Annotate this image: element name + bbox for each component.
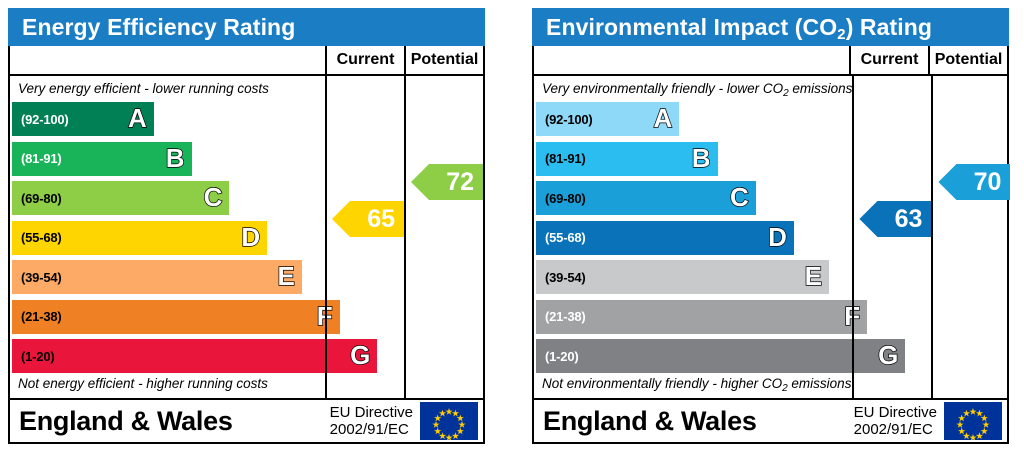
energy-header-spacer [10, 46, 325, 74]
energy-chart-footer: England & Wales EU Directive 2002/91/EC [10, 398, 483, 442]
energy-band-range-g: (1-20) [21, 349, 54, 364]
co2-band-f: (21-38)F [536, 300, 867, 334]
co2-footer-directive: EU Directive 2002/91/EC [854, 404, 944, 438]
co2-note-top-subscript: 2 [783, 88, 789, 99]
co2-band-range-c: (69-80) [545, 191, 586, 206]
co2-band-letter-b: B [692, 145, 711, 173]
co2-band-letter-e: E [805, 263, 822, 291]
co2-chart-footer: England & Wales EU Directive 2002/91/EC [534, 398, 1007, 442]
co2-band-c: (69-80)C [536, 181, 756, 215]
energy-band-range-a: (92-100) [21, 112, 69, 127]
energy-band-letter-d: D [241, 224, 260, 252]
energy-potential-column: 72 [404, 76, 483, 398]
co2-potential-rating-arrow: 70 [938, 164, 1010, 200]
environmental-impact-rating-chart: Environmental Impact (CO2) Rating Curren… [532, 8, 1009, 444]
co2-note-bottom-suffix: emissions [788, 376, 852, 391]
co2-band-b: (81-91)B [536, 142, 718, 176]
co2-band-range-f: (21-38) [545, 309, 586, 324]
energy-chart-main: Very energy efficient - lower running co… [10, 76, 483, 398]
energy-band-range-f: (21-38) [21, 309, 62, 324]
energy-band-range-c: (69-80) [21, 191, 62, 206]
co2-chart-header-row: Current Potential [534, 46, 1007, 76]
energy-directive-line1: EU Directive [330, 404, 413, 421]
co2-note-bottom-text: Not environmentally friendly - higher CO [542, 376, 782, 391]
energy-efficiency-rating-chart: Energy Efficiency Rating Current Potenti… [8, 8, 485, 444]
eu-flag-icon [944, 402, 1002, 440]
energy-directive-line2: 2002/91/EC [330, 421, 413, 438]
co2-footer-region: England & Wales [543, 406, 854, 437]
energy-band-b: (81-91)B [12, 142, 192, 176]
co2-note-bottom: Not environmentally friendly - higher CO… [534, 375, 852, 395]
co2-header-spacer [534, 46, 849, 74]
co2-band-letter-d: D [768, 224, 787, 252]
co2-note-top-text: Very environmentally friendly - lower CO [542, 81, 783, 96]
energy-band-f: (21-38)F [12, 300, 340, 334]
co2-note-top: Very environmentally friendly - lower CO… [534, 80, 852, 100]
energy-chart-body: Current Potential Very energy efficient … [8, 46, 485, 444]
energy-band-letter-c: C [204, 184, 223, 212]
co2-chart-title: Environmental Impact (CO2) Rating [532, 8, 1009, 46]
co2-potential-column: 70 [931, 76, 1010, 398]
co2-band-letter-c: C [730, 184, 749, 212]
energy-footer-region: England & Wales [19, 406, 330, 437]
co2-current-column: 63 [852, 76, 931, 398]
energy-band-c: (69-80)C [12, 181, 229, 215]
energy-current-rating-arrow: 65 [332, 201, 404, 237]
co2-chart-body: Current Potential Very environmentally f… [532, 46, 1009, 444]
co2-chart-title-suffix: ) Rating [846, 14, 932, 40]
co2-band-d: (55-68)D [536, 221, 794, 255]
co2-band-range-a: (92-100) [545, 112, 593, 127]
co2-band-letter-a: A [654, 105, 673, 133]
co2-band-range-g: (1-20) [545, 349, 578, 364]
co2-band-range-d: (55-68) [545, 230, 586, 245]
co2-current-rating-arrow: 63 [859, 201, 931, 237]
epc-charts-page: Energy Efficiency Rating Current Potenti… [0, 0, 1024, 452]
co2-header-current: Current [849, 46, 928, 74]
energy-band-e: (39-54)E [12, 260, 302, 294]
energy-band-range-e: (39-54) [21, 270, 62, 285]
co2-band-e: (39-54)E [536, 260, 829, 294]
co2-header-potential: Potential [928, 46, 1007, 74]
energy-footer-directive: EU Directive 2002/91/EC [330, 404, 420, 438]
energy-chart-title-text: Energy Efficiency Rating [22, 14, 295, 40]
co2-directive-line1: EU Directive [854, 404, 937, 421]
energy-band-range-d: (55-68) [21, 230, 62, 245]
co2-chart-title-text: Environmental Impact (CO [546, 14, 837, 40]
co2-note-bottom-subscript: 2 [782, 383, 788, 394]
energy-band-letter-b: B [166, 145, 185, 173]
energy-potential-rating-arrow: 72 [411, 164, 483, 200]
energy-note-bottom: Not energy efficient - higher running co… [10, 375, 325, 395]
energy-chart-header-row: Current Potential [10, 46, 483, 76]
energy-band-letter-e: E [277, 263, 294, 291]
co2-chart-main: Very environmentally friendly - lower CO… [534, 76, 1007, 398]
co2-band-list: (92-100)A(81-91)B(69-80)C(55-68)D(39-54)… [534, 100, 852, 375]
co2-band-range-e: (39-54) [545, 270, 586, 285]
energy-band-list: (92-100)A(81-91)B(69-80)C(55-68)D(39-54)… [10, 100, 325, 375]
energy-band-letter-a: A [128, 105, 147, 133]
co2-note-top-suffix: emissions [789, 81, 853, 96]
energy-bands-column: Very energy efficient - lower running co… [10, 76, 325, 398]
eu-flag-icon [420, 402, 478, 440]
co2-directive-line2: 2002/91/EC [854, 421, 937, 438]
co2-bands-column: Very environmentally friendly - lower CO… [534, 76, 852, 398]
co2-band-range-b: (81-91) [545, 151, 586, 166]
energy-header-current: Current [325, 46, 404, 74]
co2-band-g: (1-20)G [536, 339, 905, 373]
energy-band-d: (55-68)D [12, 221, 267, 255]
energy-header-potential: Potential [404, 46, 483, 74]
energy-band-range-b: (81-91) [21, 151, 62, 166]
energy-band-g: (1-20)G [12, 339, 377, 373]
energy-note-top: Very energy efficient - lower running co… [10, 80, 325, 100]
energy-current-column: 65 [325, 76, 404, 398]
energy-chart-title: Energy Efficiency Rating [8, 8, 485, 46]
energy-band-a: (92-100)A [12, 102, 154, 136]
co2-band-a: (92-100)A [536, 102, 679, 136]
co2-chart-title-subscript: 2 [837, 26, 845, 43]
